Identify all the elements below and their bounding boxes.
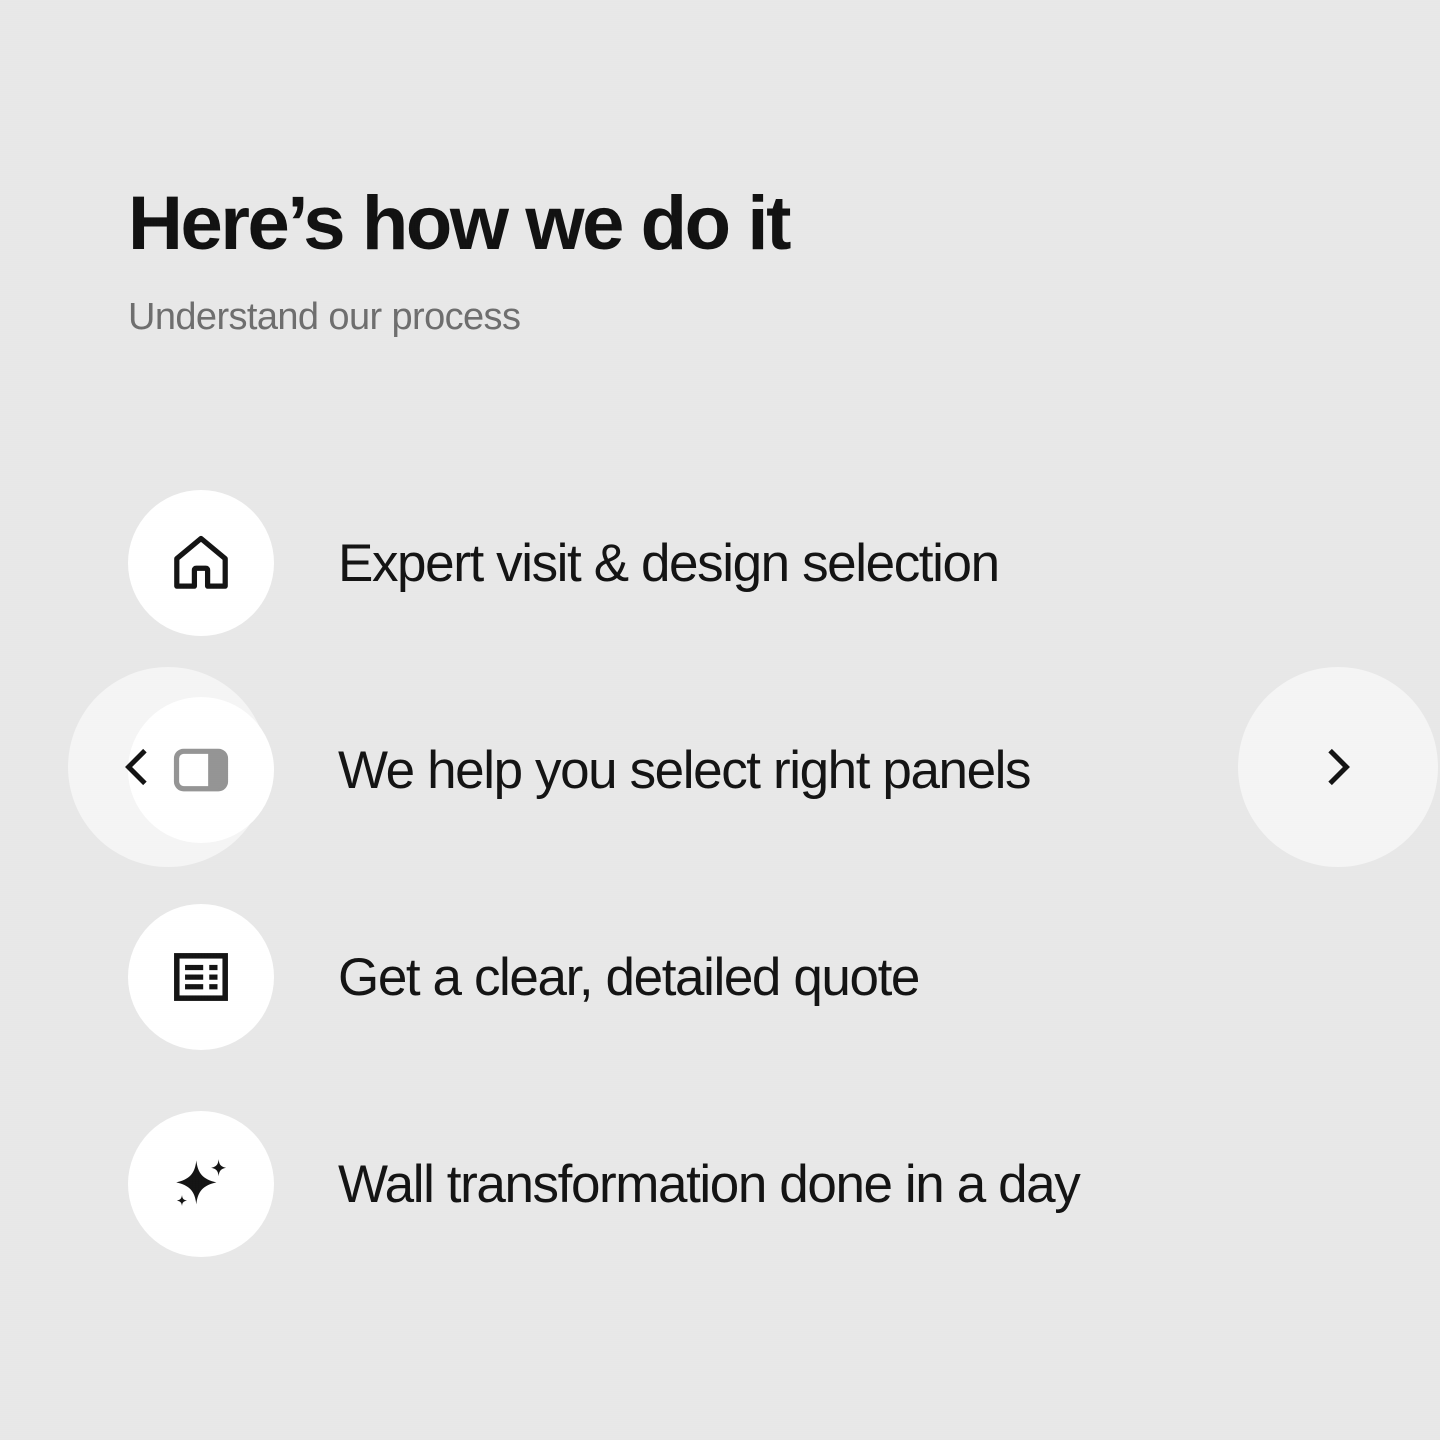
list-item[interactable]: Wall transformation done in a day: [128, 1109, 1328, 1259]
list-item-label: We help you select right panels: [338, 744, 1030, 797]
list-item[interactable]: Expert visit & design selection: [128, 488, 1328, 638]
process-slide: Here’s how we do it Understand our proce…: [0, 0, 1440, 1440]
sparkles-icon: [168, 1151, 234, 1217]
list-item[interactable]: Get a clear, detailed quote: [128, 902, 1328, 1052]
chevron-left-icon: [114, 744, 160, 790]
step-icon-badge: [128, 490, 274, 636]
carousel-prev-button[interactable]: [68, 667, 268, 867]
receipt-icon: [168, 944, 234, 1010]
page-title: Here’s how we do it: [128, 186, 1228, 262]
step-icon-badge: [128, 1111, 274, 1257]
carousel-next-button[interactable]: [1238, 667, 1438, 867]
home-icon: [168, 530, 234, 596]
page-subtitle: Understand our process: [128, 298, 1228, 336]
chevron-right-icon: [1315, 744, 1361, 790]
list-item-label: Expert visit & design selection: [338, 537, 999, 590]
list-item-label: Get a clear, detailed quote: [338, 951, 919, 1004]
list-item[interactable]: We help you select right panels: [128, 695, 1328, 845]
steps-list: Expert visit & design selection We help …: [128, 488, 1328, 1259]
list-item-label: Wall transformation done in a day: [338, 1158, 1079, 1211]
step-icon-badge: [128, 904, 274, 1050]
header-block: Here’s how we do it Understand our proce…: [128, 186, 1228, 336]
